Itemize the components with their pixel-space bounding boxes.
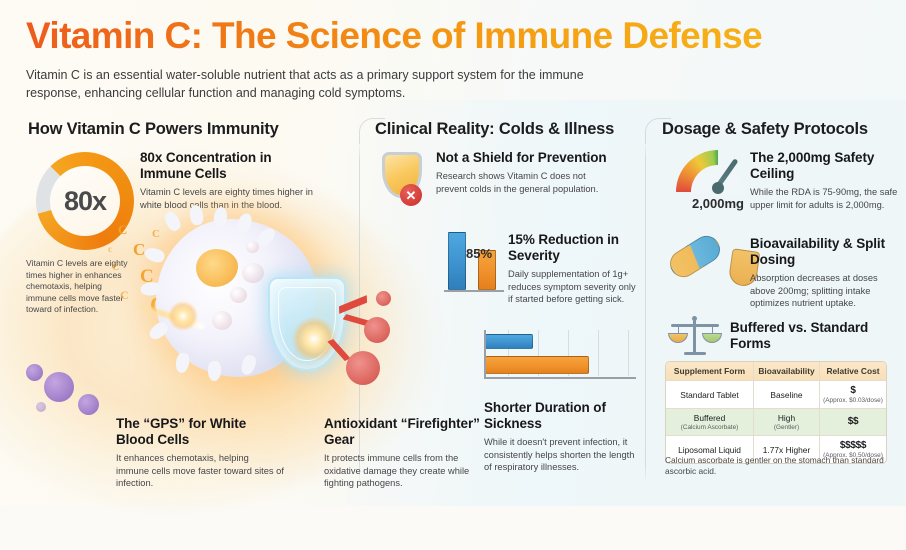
antioxidant-body: It protects immune cells from the oxidat… — [324, 452, 484, 490]
cell-bio-sub: (Gentler) — [774, 424, 799, 431]
cell-cost: $$ — [820, 409, 886, 434]
cell-vacuole — [246, 241, 259, 253]
cost-sub: (Approx. $0.03/dose) — [823, 397, 883, 404]
concentration-title: 80x Concentration in Immune Cells — [140, 150, 320, 182]
safety-ceiling-title: The 2,000mg Safety Ceiling — [750, 150, 898, 182]
header: Vitamin C: The Science of Immune Defense… — [26, 16, 880, 102]
severity-bar-label: 85% — [466, 246, 492, 261]
duration-block: Shorter Duration of Sickness While it do… — [484, 400, 636, 474]
buffered-block: Buffered vs. Standard Forms — [730, 320, 890, 352]
cell-vacuole — [230, 287, 247, 303]
cell-spike — [208, 361, 222, 381]
table-row: Standard Tablet Baseline $ (Approx. $0.0… — [666, 381, 886, 409]
cell-form-main: Buffered — [694, 413, 726, 423]
safety-ceiling-body: While the RDA is 75-90mg, the safe upper… — [750, 186, 898, 211]
scales-pan-left — [668, 333, 688, 343]
gps-title: The “GPS” for White Blood Cells — [116, 416, 284, 448]
table-row: Buffered (Calcium Ascorbate) High (Gentl… — [666, 409, 886, 435]
duration-bar-chart — [484, 330, 636, 386]
shield-impact-spark — [292, 317, 336, 361]
cost-symbol: $$ — [848, 416, 859, 428]
pathogen-virus-icon — [36, 402, 46, 412]
pathogen-virus-icon — [78, 394, 99, 415]
bar-with-vitamin-c — [485, 334, 533, 349]
bioavailability-body: Absorption decreases at doses above 200m… — [750, 272, 900, 310]
cell-form: Buffered (Calcium Ascorbate) — [666, 409, 754, 434]
column-heading-right: Dosage & Safety Protocols — [662, 120, 868, 139]
buffered-title: Buffered vs. Standard Forms — [730, 320, 890, 352]
scales-pan-right — [702, 333, 722, 343]
concentration-block: 80x Concentration in Immune Cells Vitami… — [140, 150, 320, 211]
donut-center-label: 80x — [36, 152, 134, 250]
spark-glow — [168, 301, 198, 331]
column-divider-right — [645, 140, 646, 484]
chart-gridline — [628, 330, 629, 376]
cell-bioavailability: High (Gentler) — [754, 409, 820, 434]
close-icon: ✕ — [400, 184, 422, 206]
gps-block: The “GPS” for White Blood Cells It enhan… — [116, 416, 284, 490]
severity-block: 15% Reduction in Severity Daily suppleme… — [508, 232, 636, 306]
balance-scales-icon — [668, 316, 722, 356]
cell-bioavailability: Baseline — [754, 381, 820, 408]
cell-cost: $ (Approx. $0.03/dose) — [820, 381, 886, 408]
cell-spike — [189, 204, 205, 226]
antioxidant-title: Antioxidant “Firefighter” Gear — [324, 416, 484, 448]
duration-title: Shorter Duration of Sickness — [484, 400, 636, 432]
cell-form: Standard Tablet — [666, 381, 754, 408]
cell-spike — [174, 352, 190, 374]
column-heading-middle: Clinical Reality: Colds & Illness — [375, 120, 614, 139]
pathogen-virus-icon — [346, 351, 380, 385]
pathogen-virus-icon — [376, 291, 391, 306]
vitamin-c-letter-icon: C — [120, 288, 129, 303]
pathogen-virus-icon — [364, 317, 390, 343]
not-a-shield-title: Not a Shield for Prevention — [436, 150, 612, 166]
cell-vacuole — [242, 263, 264, 283]
safety-ceiling-block: The 2,000mg Safety Ceiling While the RDA… — [750, 150, 898, 211]
table-header-bioavailability: Bioavailability — [754, 362, 820, 380]
chart-axis — [444, 290, 504, 292]
antioxidant-block: Antioxidant “Firefighter” Gear It protec… — [324, 416, 484, 490]
page-subtitle: Vitamin C is an essential water-soluble … — [26, 66, 601, 102]
bar-without-vitamin-c — [485, 356, 589, 374]
bioavailability-block: Bioavailability & Split Dosing Absorptio… — [750, 236, 900, 310]
pathogen-virus-icon — [44, 372, 74, 402]
duration-body: While it doesn't prevent infection, it c… — [484, 436, 636, 474]
cell-spike — [162, 209, 183, 233]
white-blood-cell-illustration — [150, 205, 390, 420]
chart-gridline — [598, 330, 599, 376]
severity-body: Daily supplementation of 1g+ reduces sym… — [508, 268, 636, 306]
not-a-shield-block: Not a Shield for Prevention Research sho… — [436, 150, 612, 195]
chart-x-axis — [484, 377, 636, 379]
bioavailability-title: Bioavailability & Split Dosing — [750, 236, 900, 268]
page-title: Vitamin C: The Science of Immune Defense — [26, 16, 880, 57]
supplement-comparison-table: Supplement Form Bioavailability Relative… — [665, 361, 887, 464]
table-header-cost: Relative Cost — [820, 362, 886, 380]
table-header-form: Supplement Form — [666, 362, 754, 380]
column-heading-left: How Vitamin C Powers Immunity — [28, 120, 279, 139]
table-header-row: Supplement Form Bioavailability Relative… — [666, 362, 886, 381]
cell-vacuole — [212, 311, 232, 330]
vitamin-c-letter-icon: C — [112, 262, 119, 273]
scales-base — [684, 352, 706, 355]
gps-body: It enhances chemotaxis, helping immune c… — [116, 452, 284, 490]
cost-symbol: $$$$$ — [840, 440, 866, 452]
cost-symbol: $ — [850, 385, 855, 397]
bar-baseline — [448, 232, 466, 290]
table-footnote: Calcium ascorbate is gentler on the stom… — [665, 455, 895, 478]
severity-title: 15% Reduction in Severity — [508, 232, 636, 264]
pathogen-virus-icon — [26, 364, 43, 381]
gauge-needle-hub — [712, 182, 724, 194]
not-a-shield-body: Research shows Vitamin C does not preven… — [436, 170, 612, 195]
severity-bar-chart — [444, 232, 504, 298]
vitamin-c-letter-icon: C — [133, 240, 145, 260]
chart-y-axis — [484, 330, 486, 378]
infographic-page: Vitamin C: The Science of Immune Defense… — [0, 0, 906, 506]
cell-form-sub: (Calcium Ascorbate) — [681, 424, 739, 431]
cell-bio-main: High — [778, 413, 795, 423]
